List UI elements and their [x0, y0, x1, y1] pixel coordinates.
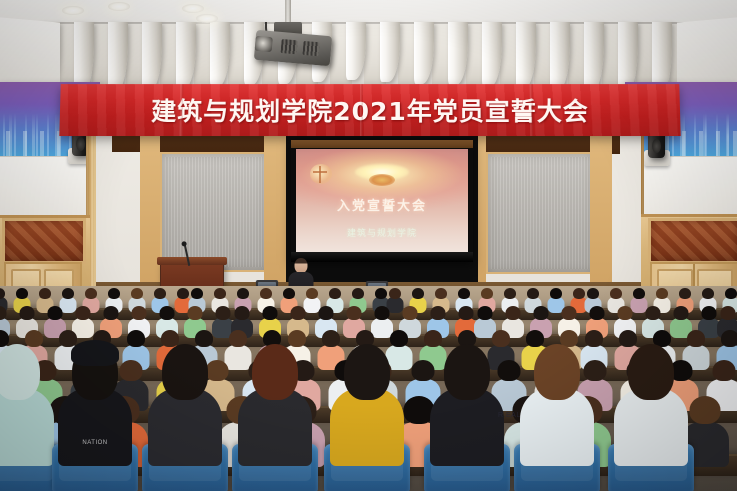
downlight — [196, 14, 218, 23]
audience-head — [527, 288, 539, 299]
audience-head — [216, 306, 231, 320]
audience-area: NATIONR.EAL — [0, 286, 737, 491]
audience-head — [389, 288, 401, 299]
audience-head — [721, 306, 736, 320]
audience-head — [550, 288, 562, 299]
audience-head — [16, 288, 28, 299]
audience-head — [435, 288, 447, 299]
event-banner-text: 建筑与规划学院2021年党员宣誓大会 — [151, 92, 589, 128]
shirt-graphic-text: NATION — [82, 440, 107, 446]
slide-subtitle: 建筑与规划学院 — [296, 226, 468, 239]
audience-head — [252, 344, 298, 400]
acoustic-panel-left — [160, 152, 268, 272]
acoustic-panel-right — [486, 152, 594, 274]
ornate-panel-right — [648, 218, 737, 264]
audience-head — [108, 288, 120, 299]
ceiling-rib — [210, 22, 230, 87]
audience-member-front — [614, 344, 688, 464]
ceiling-rib — [584, 22, 604, 92]
audience-head — [291, 306, 306, 320]
audience-head — [352, 288, 364, 299]
banner-fold-1 — [180, 84, 184, 136]
ceiling-rib — [142, 22, 162, 91]
audience-member-front — [0, 344, 54, 464]
audience-head — [481, 288, 493, 299]
projector-vent-right — [302, 41, 319, 56]
baseball-cap-icon — [71, 340, 119, 366]
audience-head — [504, 288, 516, 299]
audience-head — [646, 306, 661, 320]
audience-head — [431, 306, 446, 320]
audience-head — [506, 306, 521, 320]
audience-member-front: NATION — [58, 344, 132, 464]
ceiling-rib — [346, 22, 366, 80]
audience-member-front — [238, 344, 312, 464]
audience-head — [131, 288, 143, 299]
audience-member-front — [430, 344, 504, 464]
audience-head — [459, 306, 474, 320]
audience-torso — [0, 388, 54, 466]
audience-head — [329, 288, 341, 299]
audience-head — [562, 306, 577, 320]
shirt-graphic-text-mid: R.EAL — [498, 412, 521, 419]
screen-top-casing — [291, 140, 473, 148]
audience-head — [590, 306, 605, 320]
audience-head — [347, 306, 362, 320]
ceiling-rib — [482, 22, 502, 87]
audience-head — [162, 344, 208, 400]
audience-head — [62, 288, 74, 299]
presenter-head — [295, 258, 308, 273]
audience-head — [412, 288, 424, 299]
audience-head — [573, 288, 585, 299]
audience-head — [177, 288, 189, 299]
audience-head — [687, 330, 705, 347]
ceiling-rib — [176, 22, 196, 89]
stage-frame-right — [590, 132, 612, 298]
audience-head — [534, 344, 580, 400]
audience-head — [260, 288, 272, 299]
audience-head — [534, 306, 549, 320]
ceiling-rib — [380, 22, 400, 82]
audience-head — [587, 288, 599, 299]
audience-head — [628, 344, 674, 400]
audience-head — [0, 306, 7, 320]
audience-head — [702, 306, 717, 320]
audience-head — [132, 306, 147, 320]
audience-head — [85, 288, 97, 299]
audience-head — [191, 288, 203, 299]
audience-head — [76, 306, 91, 320]
audience-head — [160, 306, 175, 320]
ceiling-rib — [550, 22, 570, 91]
audience-head — [375, 288, 387, 299]
audience-member-front — [148, 344, 222, 464]
projector-mount-pole — [285, 0, 291, 24]
audience-member-front — [330, 344, 404, 464]
event-banner: 建筑与规划学院2021年党员宣誓大会 — [59, 84, 680, 136]
audience-head — [721, 330, 737, 347]
audience-head — [237, 288, 249, 299]
audience-head — [403, 306, 418, 320]
audience-head — [319, 306, 334, 320]
audience-head — [674, 306, 689, 320]
auditorium-photo: 入党宣誓大会 建筑与规划学院 建筑与规划学院2021年党员宣誓大会 NATION… — [0, 0, 737, 491]
audience-head — [444, 344, 490, 400]
audience-head — [188, 306, 203, 320]
ceiling-rib — [108, 22, 128, 92]
audience-head — [344, 344, 390, 400]
ceiling-rib — [516, 22, 536, 89]
audience-head — [306, 288, 318, 299]
projection-screen: 入党宣誓大会 建筑与规划学院 — [291, 140, 473, 262]
audience-head — [712, 360, 735, 381]
audience-head — [235, 306, 250, 320]
ceiling — [0, 0, 737, 92]
audience-head — [458, 288, 470, 299]
podium-top-surface — [157, 257, 227, 265]
downlight — [62, 6, 84, 15]
audience-head — [690, 396, 721, 424]
projector-vent-left — [281, 39, 298, 54]
audience-head — [702, 288, 714, 299]
party-emblem-icon — [369, 174, 395, 186]
audience-head — [633, 288, 645, 299]
audience-head — [104, 306, 119, 320]
downlight — [108, 2, 130, 11]
audience-head — [679, 288, 691, 299]
audience-head — [478, 306, 493, 320]
stage-frame-left — [140, 130, 160, 298]
downlight — [182, 4, 204, 13]
audience-head — [656, 288, 668, 299]
audience-head — [610, 288, 622, 299]
audience-member-front — [520, 344, 594, 464]
audience-head — [375, 306, 390, 320]
banner-fold-2 — [360, 84, 363, 136]
audience-head — [283, 288, 295, 299]
ceiling-rib — [414, 22, 434, 84]
audience-head — [39, 288, 51, 299]
ornate-panel-left — [2, 218, 86, 264]
screen-bottom-bar — [291, 252, 473, 262]
audience-head — [725, 288, 737, 299]
audience-head — [154, 288, 166, 299]
audience-head — [618, 306, 633, 320]
stage-frame-mid-left — [264, 130, 286, 298]
slide-title: 入党宣誓大会 — [296, 195, 468, 214]
audience-head — [0, 344, 40, 400]
audience-head — [214, 288, 226, 299]
audience-head — [20, 306, 35, 320]
audience-head — [263, 306, 278, 320]
ceiling-rib — [448, 22, 468, 85]
flag-icon — [310, 164, 332, 184]
slide-content: 入党宣誓大会 建筑与规划学院 — [296, 149, 468, 253]
audience-head — [48, 306, 63, 320]
projector-lens — [255, 36, 273, 52]
